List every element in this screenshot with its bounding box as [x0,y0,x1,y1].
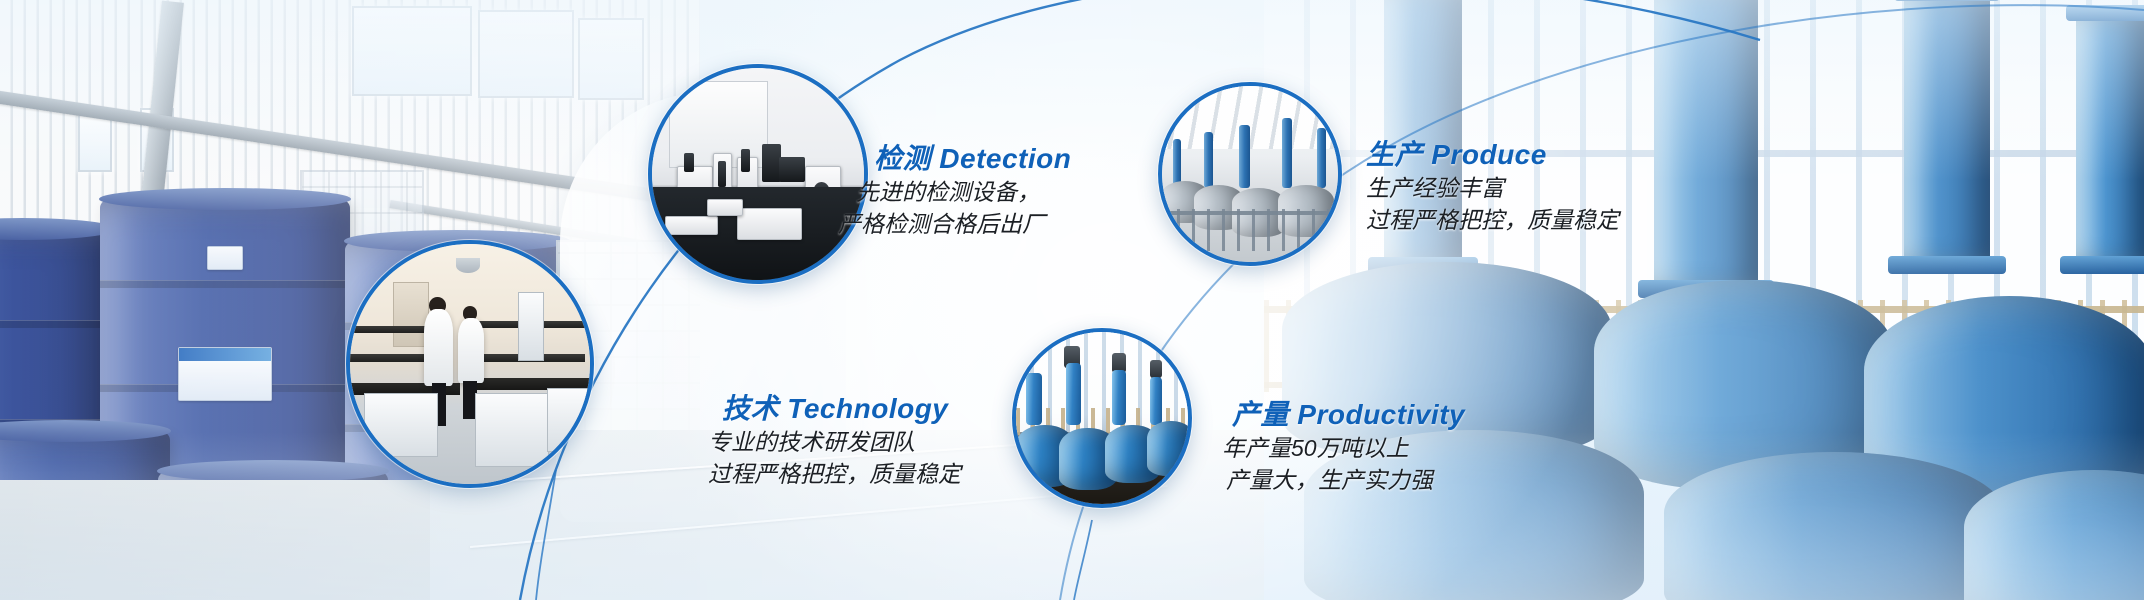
productivity-line-1: 年产量50万吨以上 [1222,432,1465,464]
technology-heading-en: Technology [787,393,948,424]
technology-line-2: 过程严格把控，质量稳定 [708,458,961,490]
feature-text-produce: 生产 Produce 生产经验丰富 过程严格把控，质量稳定 [1366,138,1619,236]
productivity-line-2: 产量大，生产实力强 [1226,464,1465,496]
produce-heading: 生产 Produce [1366,138,1619,172]
detection-line-2: 严格检测合格后出厂 [838,208,1071,240]
technology-line-1: 专业的技术研发团队 [708,426,961,458]
reactor-hall-scene [1264,0,2144,600]
warehouse-window [352,6,472,96]
technology-heading: 技术 Technology [722,392,961,426]
productivity-blue-reactors-photo[interactable] [1012,328,1192,508]
feature-text-productivity: 产量 Productivity 年产量50万吨以上 产量大，生产实力强 [1232,398,1465,496]
agitator-column [1654,0,1758,288]
reactor-vessel [1664,452,2004,600]
productivity-heading-en: Productivity [1297,399,1465,430]
detection-line-1: 先进的检测设备， [856,176,1071,208]
feature-text-detection: 检测 Detection 先进的检测设备， 严格检测合格后出厂 [874,142,1071,240]
produce-line-1: 生产经验丰富 [1366,172,1619,204]
detection-heading-en: Detection [939,143,1071,174]
feature-text-technology: 技术 Technology 专业的技术研发团队 过程严格把控，质量稳定 [722,392,961,490]
agitator-column [2076,14,2144,264]
warehouse-window [78,112,112,172]
production-workshop-photo[interactable] [1158,82,1342,266]
company-strength-banner: 检测 Detection 先进的检测设备， 严格检测合格后出厂 生产 Produ… [0,0,2144,600]
produce-heading-en: Produce [1431,139,1547,170]
agitator-column [1904,0,1990,264]
produce-heading-cn: 生产 [1366,139,1423,170]
technology-heading-cn: 技术 [722,393,779,424]
warehouse-window [578,18,644,100]
productivity-heading: 产量 Productivity [1232,398,1465,432]
detection-lab-instruments-photo[interactable] [648,64,868,284]
technology-lab-staff-photo[interactable] [346,240,594,488]
detection-heading: 检测 Detection [874,142,1071,176]
productivity-heading-cn: 产量 [1232,399,1289,430]
warehouse-window [478,10,574,98]
detection-heading-cn: 检测 [874,143,931,174]
produce-line-2: 过程严格把控，质量稳定 [1366,204,1619,236]
